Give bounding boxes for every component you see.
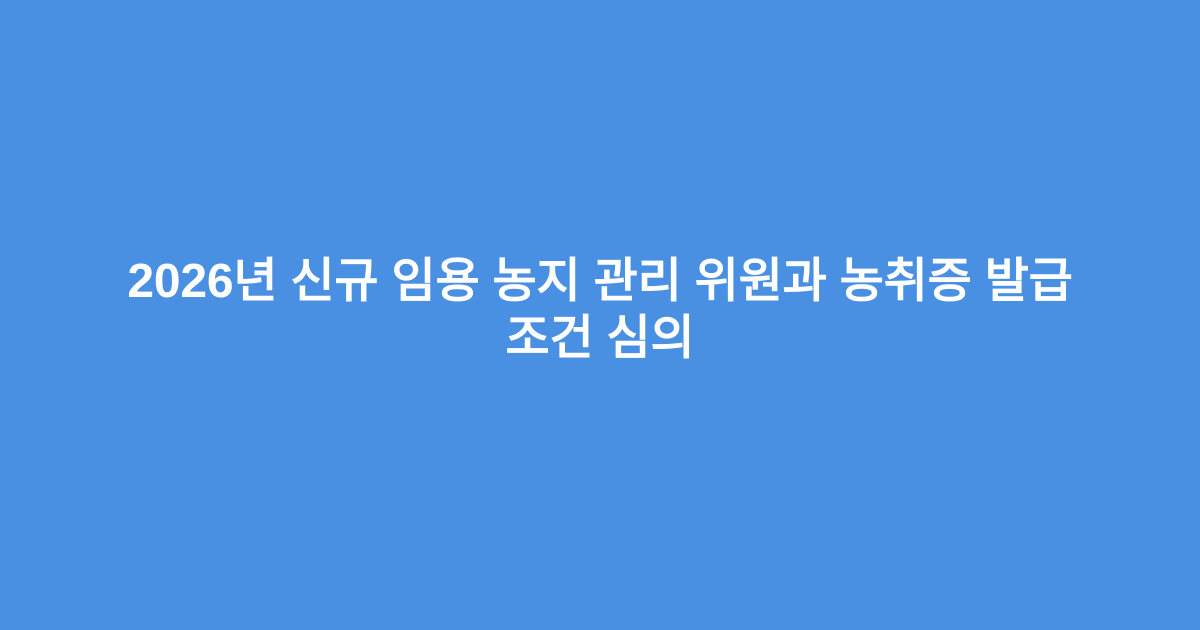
title-block: 2026년 신규 임용 농지 관리 위원과 농취증 발급 조건 심의 xyxy=(80,253,1120,367)
share-card-banner: 2026년 신규 임용 농지 관리 위원과 농취증 발급 조건 심의 xyxy=(0,0,1200,630)
card-title: 2026년 신규 임용 농지 관리 위원과 농취증 발급 조건 심의 xyxy=(80,253,1120,367)
